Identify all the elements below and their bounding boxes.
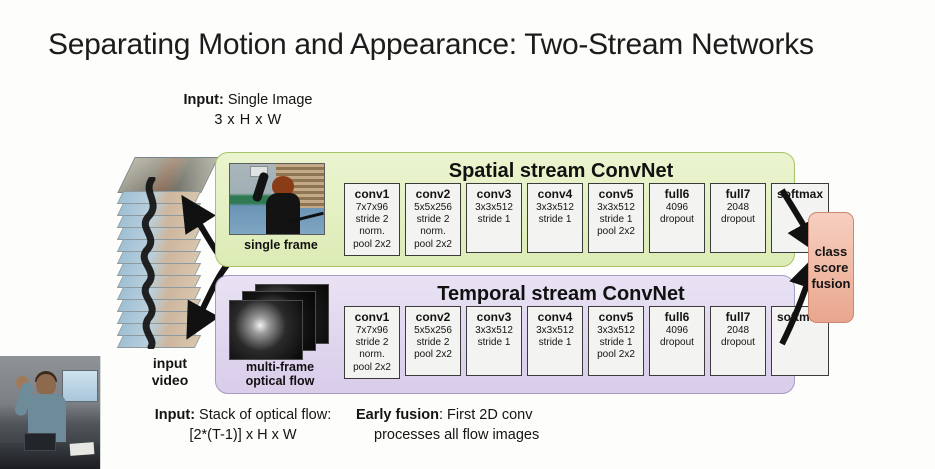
layer-detail: norm. [346, 349, 398, 361]
class-score-fusion-text: class score fusion [812, 244, 851, 292]
spatial-stream-panel: Spatial stream ConvNet single frame conv… [215, 152, 795, 267]
layer-name: full6 [651, 187, 703, 201]
layer-detail: stride 2 [346, 337, 398, 349]
fusion-line2: score [812, 260, 851, 276]
layer-name: softmax [773, 187, 827, 201]
layer-detail: 4096 [651, 325, 703, 337]
layer-name: conv1 [346, 187, 398, 201]
layer-detail: 7x7x96 [346, 325, 398, 337]
layer-detail: pool 2x2 [346, 362, 398, 374]
layer-name: conv3 [468, 187, 520, 201]
page-title: Separating Motion and Appearance: Two-St… [48, 28, 908, 62]
layer-box-conv3: conv33x3x512stride 1 [466, 306, 522, 376]
layer-detail: stride 1 [590, 337, 642, 349]
layer-name: conv4 [529, 310, 581, 324]
layer-box-conv2: conv25x5x256stride 2pool 2x2 [405, 306, 461, 376]
single-frame-label: single frame [229, 238, 333, 252]
layer-detail: 3x3x512 [529, 202, 581, 214]
video-stack-top-frame [117, 157, 219, 193]
input-top-line1: Input: Single Image [148, 90, 348, 110]
class-score-fusion-box: class score fusion [808, 212, 854, 323]
spatial-stream-title: Spatial stream ConvNet [331, 160, 791, 183]
multi-frame-optical-flow-label: multi-frame optical flow [224, 360, 336, 388]
layer-detail: 4096 [651, 202, 703, 214]
layer-detail: norm. [346, 226, 398, 238]
layer-name: conv2 [407, 187, 459, 201]
layer-box-conv5: conv53x3x512stride 1pool 2x2 [588, 183, 644, 253]
layer-detail: norm. [407, 226, 459, 238]
layer-detail: 5x5x256 [407, 325, 459, 337]
layer-detail: stride 1 [468, 337, 520, 349]
layer-detail: stride 2 [407, 337, 459, 349]
layer-detail: pool 2x2 [346, 239, 398, 251]
layer-detail: dropout [651, 214, 703, 226]
fusion-line3: fusion [812, 276, 851, 292]
input-video-label: input video [130, 355, 210, 389]
early-fusion-caption: Early fusion: First 2D conv processes al… [356, 405, 646, 445]
layer-box-conv4: conv43x3x512stride 1 [527, 306, 583, 376]
layer-box-conv3: conv33x3x512stride 1 [466, 183, 522, 253]
early-fusion-bold: Early fusion [356, 407, 439, 423]
layer-box-full6: full64096dropout [649, 183, 705, 253]
input-video-label-line1: input [130, 355, 210, 372]
layer-detail: dropout [712, 337, 764, 349]
layer-name: full7 [712, 310, 764, 324]
layer-box-conv5: conv53x3x512stride 1pool 2x2 [588, 306, 644, 376]
layer-detail: 3x3x512 [529, 325, 581, 337]
webcam-laptop [24, 433, 56, 451]
input-video-stack [120, 157, 220, 352]
layer-box-full6: full64096dropout [649, 306, 705, 376]
layer-name: conv1 [346, 310, 398, 324]
early-fusion-line1: Early fusion: First 2D conv [356, 405, 646, 425]
input-top-caption: Input: Single Image 3 x H x W [148, 90, 348, 130]
layer-detail: 2048 [712, 202, 764, 214]
layer-detail: pool 2x2 [590, 226, 642, 238]
webcam-presenter-head [36, 374, 56, 396]
layer-detail: pool 2x2 [407, 239, 459, 251]
fusion-line1: class [812, 244, 851, 260]
input-bottom-caption: Input: Stack of optical flow: [2*(T-1)] … [118, 405, 368, 445]
optical-flow-frame [229, 300, 303, 360]
slide-canvas: Separating Motion and Appearance: Two-St… [0, 0, 935, 469]
layer-name: conv3 [468, 310, 520, 324]
presenter-webcam-overlay [0, 356, 101, 469]
layer-detail: stride 1 [468, 214, 520, 226]
layer-detail: 3x3x512 [590, 325, 642, 337]
input-bottom-bold: Input: [155, 407, 195, 423]
layer-detail: 3x3x512 [468, 202, 520, 214]
single-frame-thumbnail [229, 163, 325, 235]
layer-detail: pool 2x2 [407, 349, 459, 361]
spatial-layer-row: conv17x7x96stride 2norm.pool 2x2conv25x5… [344, 183, 829, 256]
layer-box-conv2: conv25x5x256stride 2norm.pool 2x2 [405, 183, 461, 256]
layer-detail: dropout [712, 214, 764, 226]
webcam-paper [70, 442, 95, 456]
layer-box-full7: full72048dropout [710, 306, 766, 376]
input-video-label-line2: video [130, 372, 210, 389]
input-bottom-line2: [2*(T-1)] x H x W [118, 425, 368, 445]
layer-detail: stride 1 [529, 214, 581, 226]
layer-detail: stride 2 [407, 214, 459, 226]
layer-detail: 3x3x512 [468, 325, 520, 337]
layer-box-conv1: conv17x7x96stride 2norm.pool 2x2 [344, 183, 400, 256]
layer-name: conv4 [529, 187, 581, 201]
temporal-layer-row: conv17x7x96stride 2norm.pool 2x2conv25x5… [344, 306, 829, 379]
layer-detail: 5x5x256 [407, 202, 459, 214]
layer-name: conv5 [590, 310, 642, 324]
temporal-stream-panel: Temporal stream ConvNet multi-frame opti… [215, 275, 795, 394]
optical-flow-thumbnails [229, 284, 339, 364]
input-top-bold: Input: [184, 92, 224, 108]
layer-box-conv4: conv43x3x512stride 1 [527, 183, 583, 253]
layer-detail: 7x7x96 [346, 202, 398, 214]
input-bottom-rest: Stack of optical flow: [195, 407, 331, 423]
input-top-rest: Single Image [224, 92, 313, 108]
layer-detail: stride 1 [590, 214, 642, 226]
temporal-stream-title: Temporal stream ConvNet [331, 283, 791, 306]
input-bottom-line1: Input: Stack of optical flow: [118, 405, 368, 425]
layer-box-full7: full72048dropout [710, 183, 766, 253]
layer-detail: stride 1 [529, 337, 581, 349]
video-stack-frame [117, 335, 201, 348]
thumb-body [266, 193, 300, 235]
flow-label-line2: optical flow [224, 374, 336, 388]
input-top-line2: 3 x H x W [148, 110, 348, 130]
layer-name: conv2 [407, 310, 459, 324]
layer-detail: 2048 [712, 325, 764, 337]
early-fusion-line2: processes all flow images [356, 425, 646, 445]
webcam-projector-screen [62, 370, 98, 402]
layer-detail: 3x3x512 [590, 202, 642, 214]
layer-detail: stride 2 [346, 214, 398, 226]
layer-name: full7 [712, 187, 764, 201]
flow-label-line1: multi-frame [224, 360, 336, 374]
layer-name: full6 [651, 310, 703, 324]
spatial-thumbnail-wrap: single frame [229, 163, 333, 252]
early-fusion-rest: : First 2D conv [439, 407, 532, 423]
layer-name: conv5 [590, 187, 642, 201]
layer-detail: pool 2x2 [590, 349, 642, 361]
layer-box-conv1: conv17x7x96stride 2norm.pool 2x2 [344, 306, 400, 379]
layer-detail: dropout [651, 337, 703, 349]
